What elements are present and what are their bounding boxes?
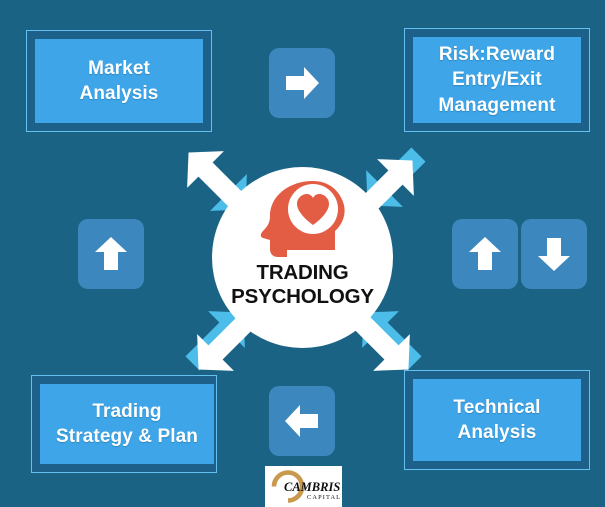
- key-arrow-left[interactable]: [269, 386, 335, 456]
- hub-title-line2: PSYCHOLOGY: [231, 285, 374, 309]
- logo-wordmark: CAMBRIST: [284, 480, 340, 494]
- key-arrow-down[interactable]: [521, 219, 587, 289]
- key-arrow-right[interactable]: [269, 48, 335, 118]
- box-trading-strategy-plan-line1: Trading: [92, 401, 161, 422]
- box-risk-reward-label: Risk:Reward Entry/Exit Management: [438, 42, 555, 117]
- arrow-up-icon: [91, 234, 131, 274]
- key-arrow-up-right-group[interactable]: [452, 219, 518, 289]
- head-with-heart-icon: [257, 179, 349, 259]
- box-trading-strategy-plan-label: Trading Strategy & Plan: [56, 399, 198, 449]
- box-technical-analysis-fill: Technical Analysis: [413, 379, 581, 461]
- box-market-analysis-label: Market Analysis: [80, 56, 159, 106]
- box-market-analysis-fill: Market Analysis: [35, 39, 203, 123]
- center-hub[interactable]: TRADING PSYCHOLOGY: [212, 167, 393, 348]
- box-trading-strategy-plan-fill: Trading Strategy & Plan: [40, 384, 214, 464]
- box-market-analysis-line1: Market: [88, 58, 150, 79]
- arrow-left-icon: [282, 401, 322, 441]
- box-trading-strategy-plan[interactable]: Trading Strategy & Plan: [31, 375, 217, 473]
- box-risk-reward-line2: Entry/Exit: [452, 69, 542, 90]
- logo-subtitle: CAPITAL: [307, 494, 340, 501]
- arrow-down-icon: [534, 234, 574, 274]
- key-arrow-up-left-group[interactable]: [78, 219, 144, 289]
- box-market-analysis-line2: Analysis: [80, 83, 159, 104]
- box-technical-analysis-label: Technical Analysis: [453, 395, 540, 445]
- arrow-right-icon: [282, 63, 322, 103]
- arrow-up-icon: [465, 234, 505, 274]
- cambrist-capital-logo-mark: CAMBRIST CAPITAL: [267, 468, 340, 505]
- box-technical-analysis-line1: Technical: [453, 397, 540, 418]
- hub-title: TRADING PSYCHOLOGY: [231, 261, 374, 309]
- hub-title-line1: TRADING: [257, 261, 349, 284]
- box-risk-reward[interactable]: Risk:Reward Entry/Exit Management: [404, 28, 590, 132]
- box-market-analysis[interactable]: Market Analysis: [26, 30, 212, 132]
- box-technical-analysis-line2: Analysis: [458, 422, 537, 443]
- cambrist-capital-logo[interactable]: CAMBRIST CAPITAL: [265, 466, 342, 507]
- box-trading-strategy-plan-line2: Strategy & Plan: [56, 426, 198, 447]
- box-risk-reward-fill: Risk:Reward Entry/Exit Management: [413, 37, 581, 123]
- diagram-canvas: Market Analysis Risk:Reward Entry/Exit M…: [0, 0, 605, 507]
- box-risk-reward-line1: Risk:Reward: [439, 44, 555, 65]
- box-risk-reward-line3: Management: [438, 95, 555, 116]
